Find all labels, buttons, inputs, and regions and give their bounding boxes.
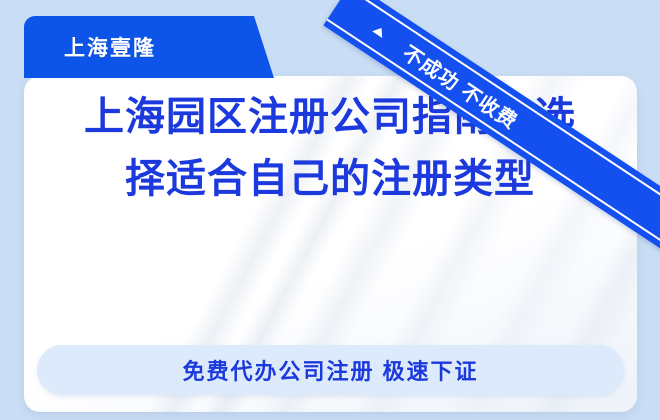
triangle-up-icon xyxy=(372,25,386,38)
promo-poster: 上海壹隆 上海园区注册公司指南：选 择适合自己的注册类型 免费代办公司注册 极速… xyxy=(0,0,660,420)
cta-pill-label: 免费代办公司注册 极速下证 xyxy=(182,354,478,386)
brand-tab-label: 上海壹隆 xyxy=(64,32,156,62)
brand-tab[interactable]: 上海壹隆 xyxy=(24,16,274,78)
cta-pill[interactable]: 免费代办公司注册 极速下证 xyxy=(37,345,624,395)
